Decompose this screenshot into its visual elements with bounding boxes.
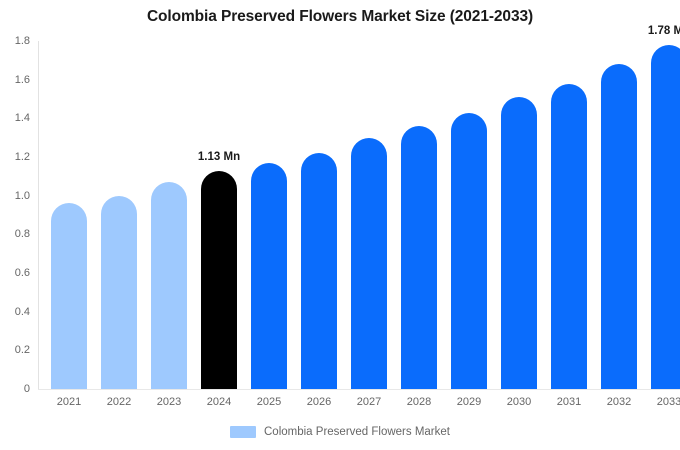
- bar-group: [144, 41, 194, 389]
- x-axis-tick-label-2029: 2029: [444, 396, 494, 408]
- bar-value-label-2024: 1.13 Mn: [198, 151, 240, 163]
- bar-2029[interactable]: [451, 113, 487, 389]
- bar-group: [444, 41, 494, 389]
- bar-group: [594, 41, 644, 389]
- bar-2023[interactable]: [151, 182, 187, 389]
- bar-2033[interactable]: [651, 45, 680, 389]
- x-axis-tick-label-2025: 2025: [244, 396, 294, 408]
- bar-group: [294, 41, 344, 389]
- x-axis-tick-label-2033: 2033: [644, 396, 680, 408]
- bar-2027[interactable]: [351, 138, 387, 389]
- x-axis-tick-label-2030: 2030: [494, 396, 544, 408]
- bar-group: [244, 41, 294, 389]
- y-axis-tick-label: 1.0: [15, 190, 38, 202]
- y-axis-tick-label: 1.8: [15, 35, 38, 47]
- y-axis-tick-label: 1.2: [15, 151, 38, 163]
- y-axis-tick-label: 1.6: [15, 74, 38, 86]
- y-axis-tick-label: 0.4: [15, 306, 38, 318]
- chart-legend: Colombia Preserved Flowers Market: [0, 426, 680, 438]
- y-axis-tick-label: 0: [24, 383, 38, 395]
- y-axis-tick-label: 0.8: [15, 228, 38, 240]
- bar-2031[interactable]: [551, 84, 587, 389]
- chart-container: Colombia Preserved Flowers Market Size (…: [0, 0, 680, 450]
- bars-layer: 1.13 Mn1.78 Mn: [38, 41, 680, 389]
- bar-2032[interactable]: [601, 64, 637, 389]
- x-axis-baseline: [38, 389, 680, 390]
- x-axis-tick-label-2024: 2024: [194, 396, 244, 408]
- bar-2025[interactable]: [251, 163, 287, 389]
- bar-group: [394, 41, 444, 389]
- x-axis-tick-label-2031: 2031: [544, 396, 594, 408]
- bar-2028[interactable]: [401, 126, 437, 389]
- legend-swatch: [230, 426, 256, 438]
- x-axis-tick-label-2023: 2023: [144, 396, 194, 408]
- x-axis-tick-label-2032: 2032: [594, 396, 644, 408]
- x-axis-tick-label-2022: 2022: [94, 396, 144, 408]
- bar-group: 1.13 Mn: [194, 41, 244, 389]
- x-axis-tick-label-2021: 2021: [44, 396, 94, 408]
- x-axis-tick-label-2028: 2028: [394, 396, 444, 408]
- bar-2022[interactable]: [101, 196, 137, 389]
- bar-2030[interactable]: [501, 97, 537, 389]
- bar-group: [94, 41, 144, 389]
- x-axis: 2021202220232024202520262027202820292030…: [38, 396, 680, 416]
- bar-group: [344, 41, 394, 389]
- bar-group: [44, 41, 94, 389]
- x-axis-tick-label-2027: 2027: [344, 396, 394, 408]
- y-axis-tick-label: 0.2: [15, 344, 38, 356]
- bar-group: [544, 41, 594, 389]
- y-axis-tick-label: 1.4: [15, 112, 38, 124]
- bar-value-label-2033: 1.78 Mn: [648, 25, 680, 37]
- bar-group: [494, 41, 544, 389]
- bar-2026[interactable]: [301, 153, 337, 389]
- bar-2024[interactable]: [201, 171, 237, 389]
- chart-title: Colombia Preserved Flowers Market Size (…: [0, 8, 680, 26]
- legend-label[interactable]: Colombia Preserved Flowers Market: [264, 426, 450, 438]
- y-axis-tick-label: 0.6: [15, 267, 38, 279]
- bar-group: 1.78 Mn: [644, 41, 680, 389]
- x-axis-tick-label-2026: 2026: [294, 396, 344, 408]
- bar-2021[interactable]: [51, 203, 87, 389]
